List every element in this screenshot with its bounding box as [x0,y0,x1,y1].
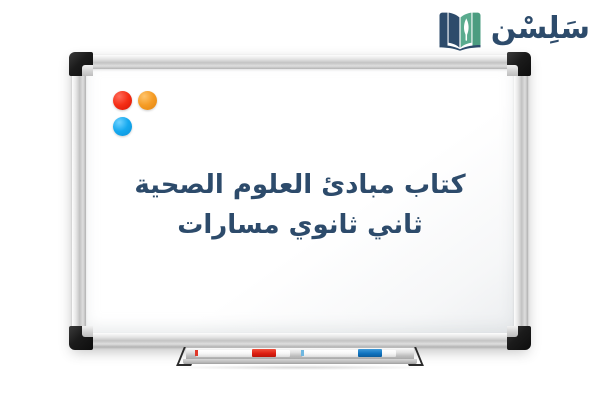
brand-wordmark: سَلِسْن [491,14,590,44]
board-title-line-2: ثاني ثانوي مسارات [86,205,514,245]
frame-rail-bottom [72,333,528,347]
magnet-red-icon[interactable] [113,91,132,110]
frame-stile-right [514,55,528,347]
frame-corner-top-left [69,52,93,76]
whiteboard: كتاب مبادئ العلوم الصحية ثاني ثانوي مسار… [72,55,528,347]
tray-lip [183,359,417,364]
marker-tray [180,347,420,369]
marker-blue-cap-icon [358,349,382,357]
open-book-with-quill-icon [437,9,483,51]
board-title-block: كتاب مبادئ العلوم الصحية ثاني ثانوي مسار… [86,165,514,246]
whiteboard-surface: كتاب مبادئ العلوم الصحية ثاني ثانوي مسار… [86,69,514,333]
marker-red-nib-icon [195,350,198,356]
frame-rail-top [72,55,528,69]
page-root: سَلِسْن [0,0,600,400]
frame-corner-bottom-left [69,326,93,350]
marker-blue-nib-icon [301,350,304,356]
frame-corner-top-right [507,52,531,76]
frame-stile-left [72,55,86,347]
brand-logo[interactable]: سَلِسْن [437,6,590,54]
magnet-blue-icon[interactable] [113,117,132,136]
frame-corner-bottom-right [507,326,531,350]
board-title-line-1: كتاب مبادئ العلوم الصحية [86,165,514,205]
magnet-orange-icon[interactable] [138,91,157,110]
marker-red-cap-icon [252,349,276,357]
